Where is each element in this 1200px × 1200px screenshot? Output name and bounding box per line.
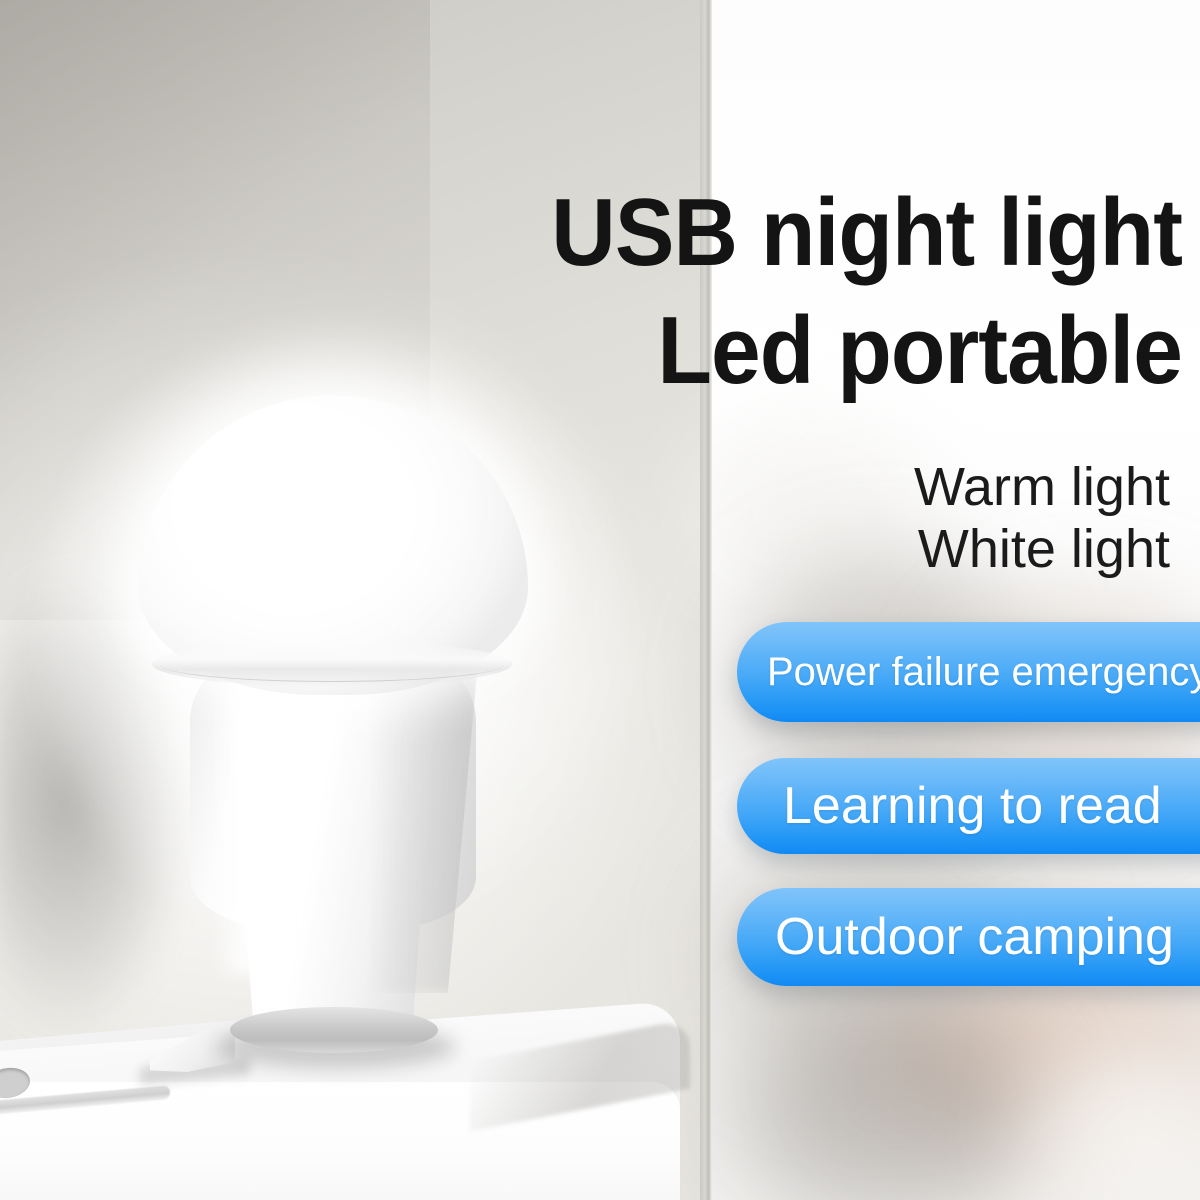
- feature-pill-label: Power failure emergency: [767, 650, 1200, 695]
- subheadline-white-light: White light: [640, 518, 1170, 580]
- subheadline-warm-light: Warm light: [640, 456, 1170, 518]
- feature-pill-power-failure-emergency: Power failure emergency: [737, 622, 1200, 722]
- bulb-left-highlight: [212, 675, 288, 975]
- feature-pill-learning-to-read: Learning to read: [737, 758, 1200, 854]
- poster-headline: USB night light Led portable: [362, 174, 1182, 410]
- bulb-right-shading: [370, 663, 478, 993]
- feature-pill-outdoor-camping: Outdoor camping: [737, 888, 1200, 986]
- feature-pill-label: Learning to read: [783, 776, 1162, 836]
- feature-pill-label: Outdoor camping: [775, 907, 1174, 967]
- led-bulb-product: [130, 395, 530, 1055]
- headline-line-2: Led portable: [362, 292, 1182, 410]
- bulb-socket-collar: [230, 1007, 438, 1053]
- poster-subheadline: Warm light White light: [640, 456, 1170, 580]
- bulb-seam-line: [160, 647, 504, 682]
- headline-line-1: USB night light: [362, 174, 1182, 292]
- product-marketing-poster: USB night light Led portable Warm light …: [0, 0, 1200, 1200]
